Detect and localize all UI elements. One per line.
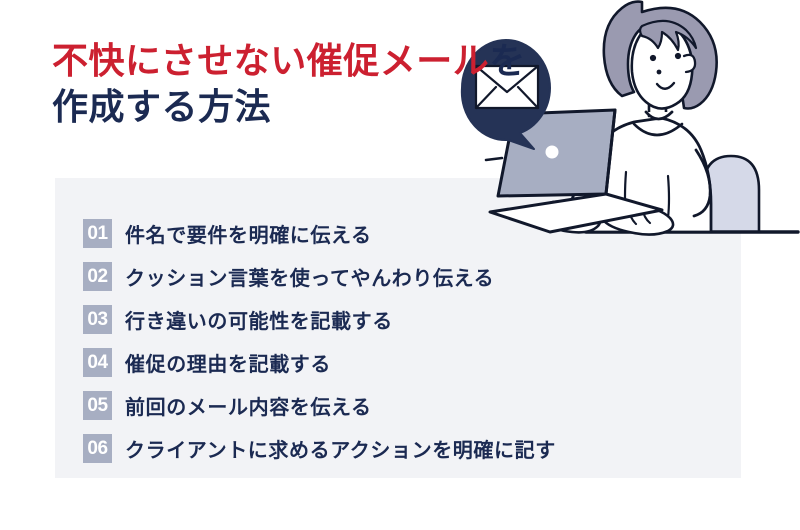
- steps-list: 01 件名で要件を明確に伝える 02 クッション言葉を使ってやんわり伝える 03…: [83, 214, 556, 472]
- title-line-2: 作成する方法: [52, 86, 652, 128]
- infographic-root: 不快にさせない催促メールを 作成する方法: [0, 0, 800, 530]
- list-item: 05 前回のメール内容を伝える: [83, 386, 556, 424]
- list-item: 03 行き違いの可能性を記載する: [83, 300, 556, 338]
- step-number-badge: 03: [83, 305, 112, 334]
- step-number-badge: 02: [83, 262, 112, 291]
- step-text: 件名で要件を明確に伝える: [125, 219, 372, 248]
- list-item: 04 催促の理由を記載する: [83, 343, 556, 381]
- step-text: クッション言葉を使ってやんわり伝える: [125, 262, 494, 291]
- title-navy-segment: を: [489, 40, 526, 81]
- step-text: 行き違いの可能性を記載する: [125, 305, 393, 334]
- title-red-segment: 不快にさせない催促メール: [52, 40, 489, 81]
- step-text: クライアントに求めるアクションを明確に記す: [125, 434, 556, 463]
- list-item: 01 件名で要件を明確に伝える: [83, 214, 556, 252]
- step-text: 催促の理由を記載する: [125, 348, 331, 377]
- step-number-badge: 04: [83, 348, 112, 377]
- step-number-badge: 06: [83, 434, 112, 463]
- page-title: 不快にさせない催促メールを 作成する方法: [52, 40, 652, 129]
- step-number-badge: 05: [83, 391, 112, 420]
- list-item: 06 クライアントに求めるアクションを明確に記す: [83, 429, 556, 467]
- step-text: 前回のメール内容を伝える: [125, 391, 372, 420]
- step-number-badge: 01: [83, 219, 112, 248]
- title-line-1: 不快にさせない催促メールを: [52, 40, 652, 82]
- list-item: 02 クッション言葉を使ってやんわり伝える: [83, 257, 556, 295]
